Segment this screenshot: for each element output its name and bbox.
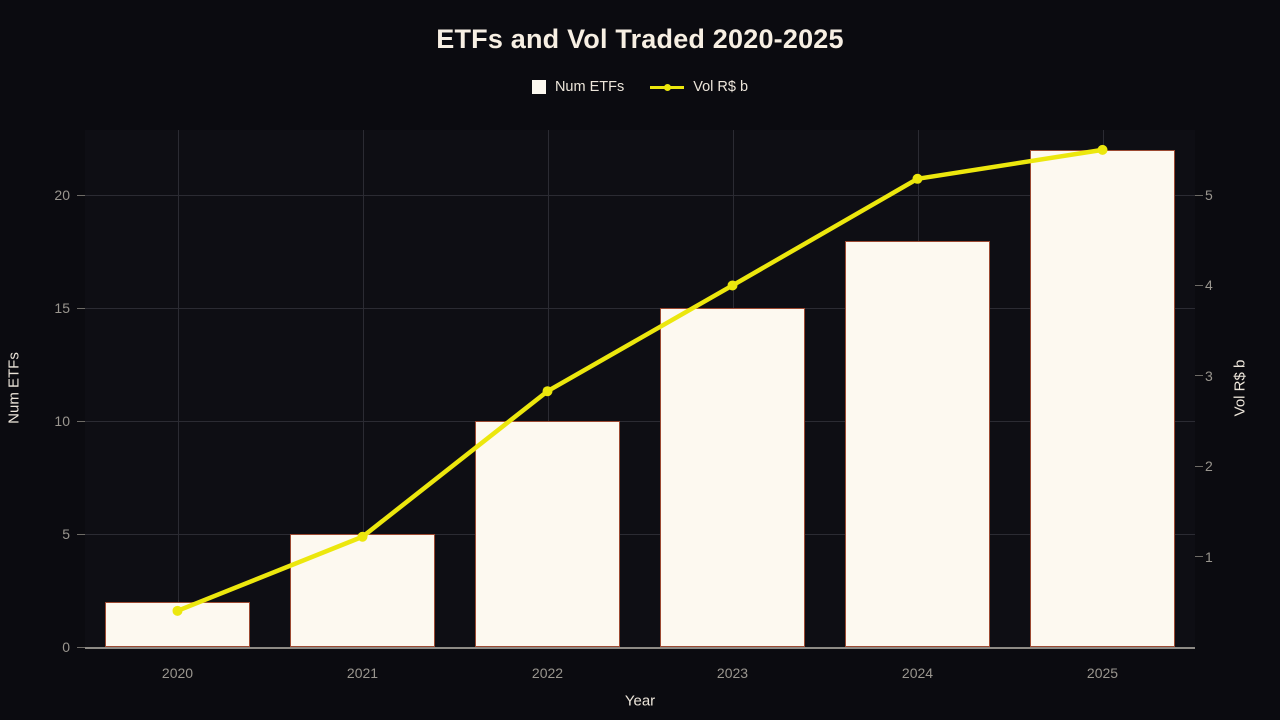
vol-marker-2025[interactable] bbox=[1098, 145, 1108, 155]
x-axis-tick-label-2024: 2024 bbox=[902, 665, 933, 681]
legend-label-vol: Vol R$ b bbox=[693, 79, 748, 95]
y-axis-right-tick-mark bbox=[1195, 375, 1203, 376]
line-series-layer bbox=[85, 130, 1195, 647]
x-axis-tick-label-2022: 2022 bbox=[532, 665, 563, 681]
y-axis-left-tick-label: 15 bbox=[30, 300, 70, 316]
plot-area bbox=[85, 130, 1195, 647]
y-axis-left-tick-label: 5 bbox=[30, 526, 70, 542]
legend-label-num-etfs: Num ETFs bbox=[555, 79, 624, 95]
vol-marker-2020[interactable] bbox=[173, 606, 183, 616]
y-axis-left-tick-label: 10 bbox=[30, 413, 70, 429]
y-axis-left-tick-mark bbox=[77, 421, 85, 422]
vol-marker-2022[interactable] bbox=[543, 386, 553, 396]
legend-line-swatch-icon bbox=[650, 80, 684, 94]
y-axis-right-tick-label: 5 bbox=[1205, 187, 1213, 203]
y-axis-left-tick-mark bbox=[77, 647, 85, 648]
chart-title: ETFs and Vol Traded 2020-2025 bbox=[0, 24, 1280, 55]
legend-item-num-etfs[interactable]: Num ETFs bbox=[532, 79, 624, 95]
y-axis-right-tick-label: 1 bbox=[1205, 549, 1213, 565]
y-axis-right-tick-mark bbox=[1195, 285, 1203, 286]
legend-bar-swatch-icon bbox=[532, 80, 546, 94]
vol-marker-2021[interactable] bbox=[358, 532, 368, 542]
y-axis-right-tick-mark bbox=[1195, 466, 1203, 467]
y-axis-right-tick-label: 4 bbox=[1205, 277, 1213, 293]
x-axis-tick-label-2025: 2025 bbox=[1087, 665, 1118, 681]
y-axis-right-tick-label: 2 bbox=[1205, 458, 1213, 474]
y-axis-left-tick-label: 20 bbox=[30, 187, 70, 203]
y-axis-right-tick-mark bbox=[1195, 556, 1203, 557]
x-axis-line bbox=[85, 647, 1195, 649]
chart-canvas: ETFs and Vol Traded 2020-2025 Num ETFs V… bbox=[0, 0, 1280, 720]
x-axis-tick-label-2023: 2023 bbox=[717, 665, 748, 681]
vol-marker-2024[interactable] bbox=[913, 174, 923, 184]
y-axis-left-tick-label: 0 bbox=[30, 639, 70, 655]
y-axis-right-tick-label: 3 bbox=[1205, 368, 1213, 384]
x-axis-tick-label-2020: 2020 bbox=[162, 665, 193, 681]
legend-item-vol[interactable]: Vol R$ b bbox=[650, 79, 748, 95]
vol-marker-2023[interactable] bbox=[728, 280, 738, 290]
y-axis-left-tick-mark bbox=[77, 195, 85, 196]
y-axis-right-title: Vol R$ b bbox=[1232, 360, 1249, 417]
x-axis-tick-label-2021: 2021 bbox=[347, 665, 378, 681]
x-axis-title: Year bbox=[625, 693, 655, 710]
y-axis-left-tick-mark bbox=[77, 308, 85, 309]
y-axis-left-title: Num ETFs bbox=[6, 352, 23, 424]
chart-legend: Num ETFs Vol R$ b bbox=[0, 79, 1280, 95]
y-axis-right-tick-mark bbox=[1195, 195, 1203, 196]
vol-line-path bbox=[178, 150, 1103, 611]
y-axis-left-tick-mark bbox=[77, 534, 85, 535]
